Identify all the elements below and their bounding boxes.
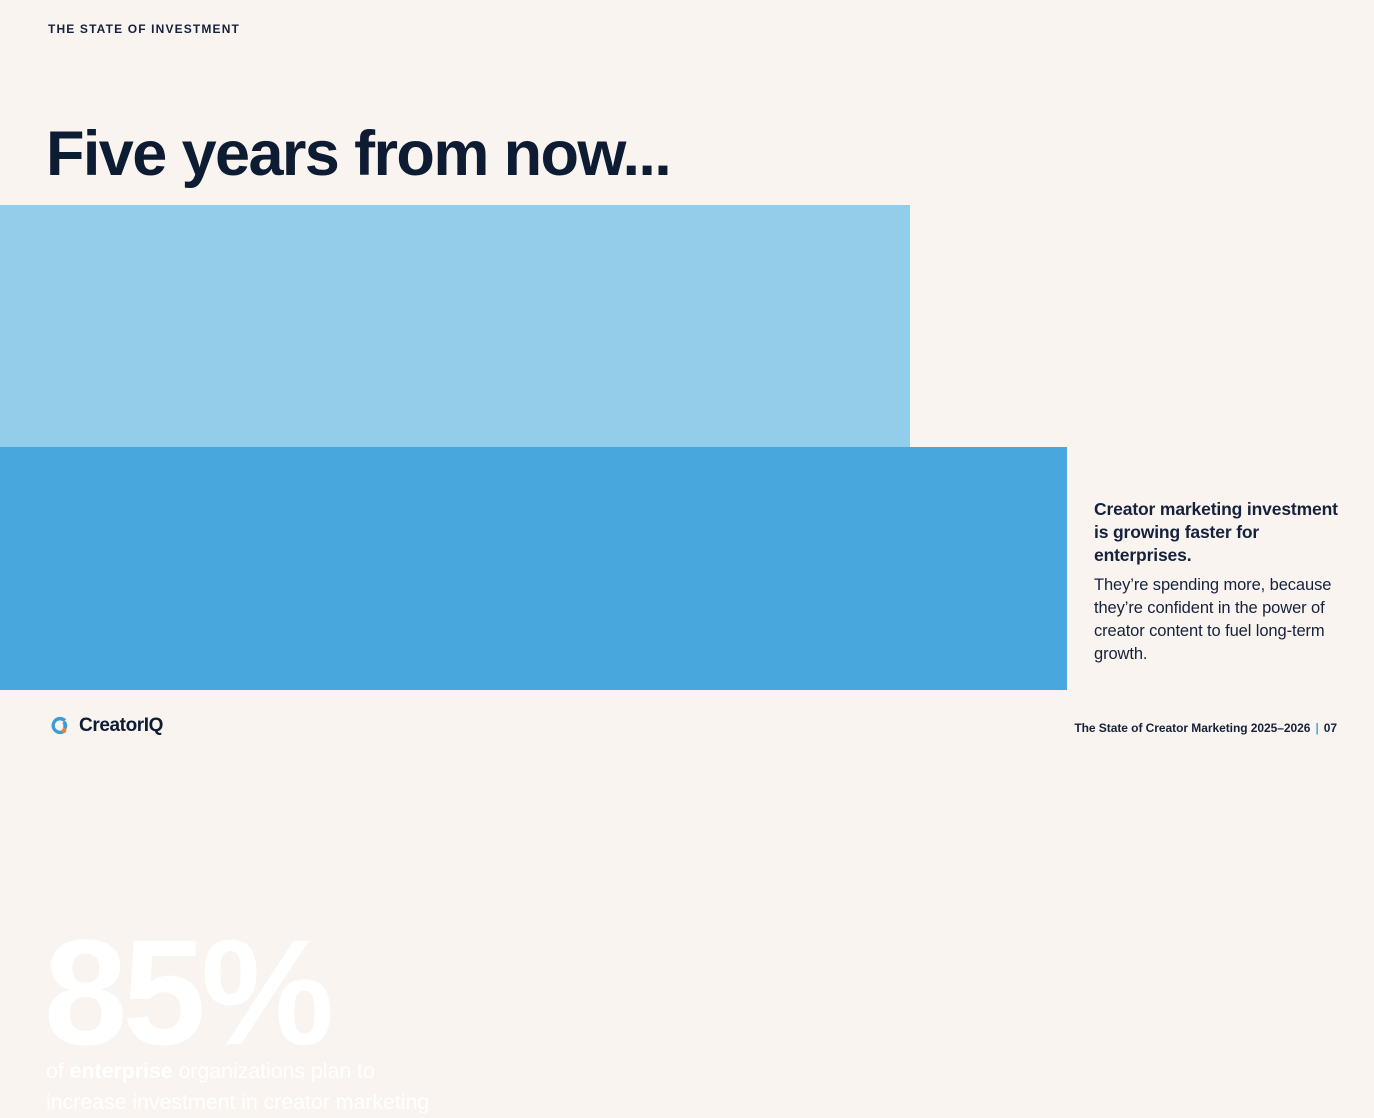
footer-page-number: 07 [1324,721,1337,735]
stat-caption-enterprise: of enterprise organizations plan to incr… [46,1056,429,1118]
stat-caption-suffix: organizations plan to [173,1059,375,1083]
brand-logo: CreatorIQ [48,714,163,737]
stat-band-enterprise: 85% of enterprise organizations plan to … [0,447,1067,690]
footer-separator: | [1310,721,1323,735]
stat-caption-line2: increase investment in creator marketing [46,1090,429,1114]
stat-figure-enterprise: 85% [44,917,329,1067]
page-title: Five years from now... [46,121,670,187]
creatoriq-mark-icon [48,714,71,737]
stat-caption-segment: enterprise [70,1059,173,1083]
stat-caption-prefix: of [46,1059,70,1083]
insight-note: Creator marketing investment is growing … [1094,498,1344,665]
stat-band-mid-market: 73% of mid-market organizations plan to … [0,205,910,447]
section-eyebrow: THE STATE OF INVESTMENT [48,22,240,36]
footer-report-title: The State of Creator Marketing 2025–2026 [1074,721,1310,735]
insight-note-body: They’re spending more, because they’re c… [1094,574,1344,665]
brand-logo-text: CreatorIQ [79,716,163,735]
slide: THE STATE OF INVESTMENT Five years from … [0,0,1374,753]
footer-meta: The State of Creator Marketing 2025–2026… [1074,721,1337,735]
insight-note-heading: Creator marketing investment is growing … [1094,498,1344,567]
